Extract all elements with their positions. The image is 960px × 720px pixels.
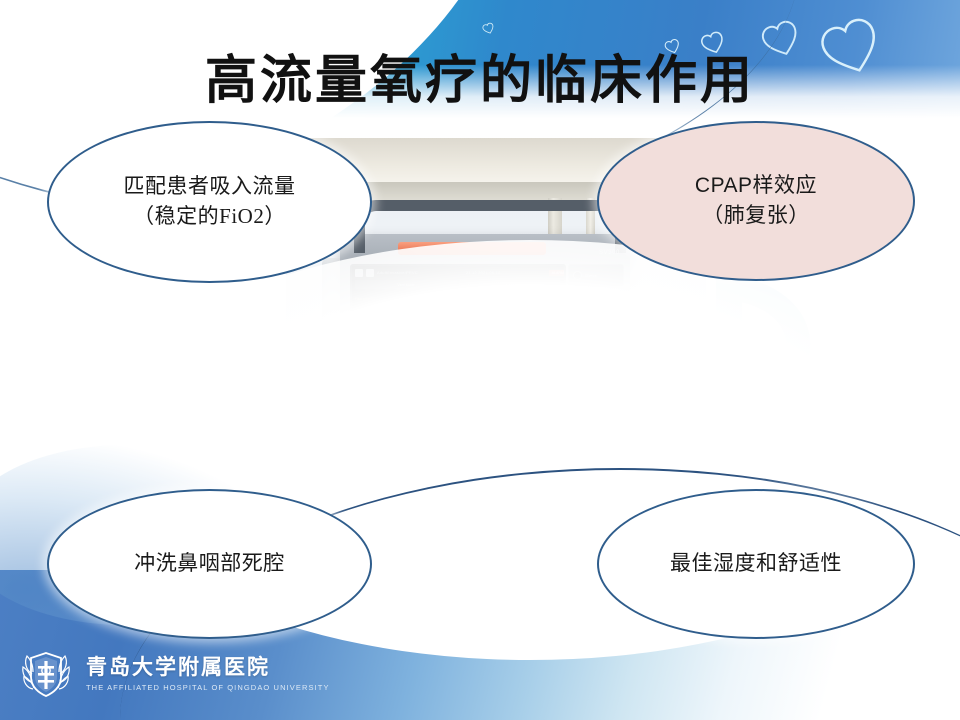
page-title: 高流量氧疗的临床作用 (0, 38, 960, 113)
callout-washout-dead-space[interactable]: 冲洗鼻咽部死腔 (47, 489, 372, 639)
callout-line-1: CPAP样效应 (695, 171, 817, 201)
callout-match-inspiratory-flow[interactable]: 匹配患者吸入流量 （稳定的FiO2） (47, 121, 372, 283)
callout-optimal-humidity-comfort[interactable]: 最佳湿度和舒适性 (597, 489, 915, 639)
callout-line-1: 冲洗鼻咽部死腔 (134, 549, 285, 579)
hospital-shield-icon (18, 646, 74, 702)
callout-line-2: （肺复张） (702, 201, 810, 231)
presentation-slide: Adult/Invasive/PRVC 21:12 2021-06-18 ALA… (0, 0, 960, 720)
callout-line-1: 最佳湿度和舒适性 (670, 549, 842, 579)
footer-hospital-logo: 青岛大学附属医院 THE AFFILIATED HOSPITAL OF QING… (18, 646, 330, 702)
callout-cpap-like-effect[interactable]: CPAP样效应 （肺复张） (597, 121, 915, 281)
callout-line-2: （稳定的FiO2） (133, 202, 286, 232)
hospital-name-cn: 青岛大学附属医院 (86, 656, 330, 679)
callout-line-1: 匹配患者吸入流量 (124, 172, 296, 202)
hospital-name-en: THE AFFILIATED HOSPITAL OF QINGDAO UNIVE… (86, 683, 330, 692)
footer-logo-text: 青岛大学附属医院 THE AFFILIATED HOSPITAL OF QING… (86, 656, 330, 691)
